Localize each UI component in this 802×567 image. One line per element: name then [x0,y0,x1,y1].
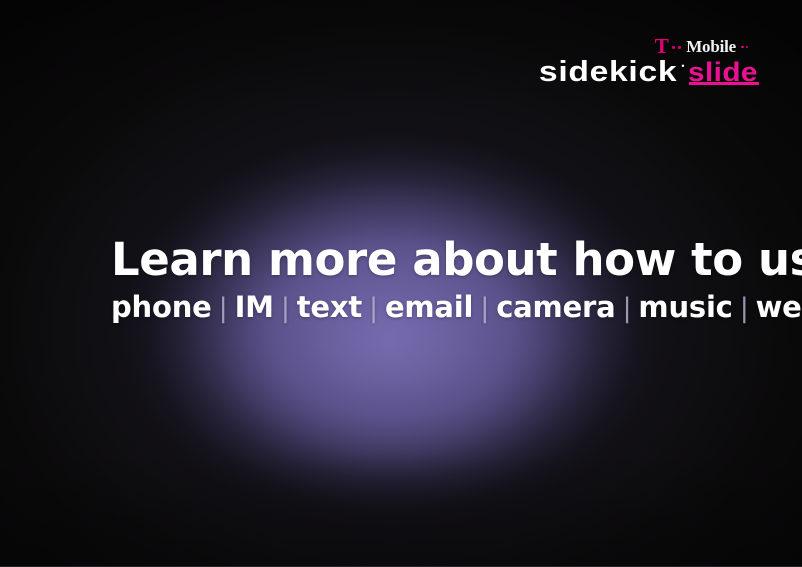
category-item-music[interactable]: music [638,290,732,324]
category-item-web[interactable]: web [756,290,802,324]
product-logo: sidekick • slide [558,57,752,86]
slide-underline [689,82,759,85]
tmobile-wordmark: Mobile [686,38,736,55]
splash-slide: T Mobile sidekick • slide Learn more abo… [0,0,802,567]
tmobile-dots-icon [672,46,681,49]
slide-wordmark-wrap: slide [688,59,752,86]
category-item-text[interactable]: text [297,290,362,324]
category-list: phone | IM | text | email | camera | mus… [111,290,802,326]
category-separator: | [740,292,749,326]
category-item-camera[interactable]: camera [496,290,615,324]
category-separator: | [219,292,228,326]
category-item-phone[interactable]: phone [111,290,212,324]
page-title: Learn more about how to use [111,234,802,286]
category-separator: | [480,292,489,326]
tmobile-trailing-dots-icon [741,46,748,49]
category-item-im[interactable]: IM [235,290,274,324]
category-separator: | [623,292,632,326]
category-separator: | [281,292,290,326]
tmobile-t-glyph: T [655,36,669,57]
trademark-icon: • [681,62,684,71]
hero-text-block: Learn more about how to use phone | IM |… [111,234,802,326]
category-separator: | [369,292,378,326]
category-item-email[interactable]: email [385,290,473,324]
sidekick-wordmark: sidekick [539,58,677,87]
tmobile-logo: T Mobile [558,36,748,54]
brand-lockup: T Mobile sidekick • slide [558,36,752,86]
